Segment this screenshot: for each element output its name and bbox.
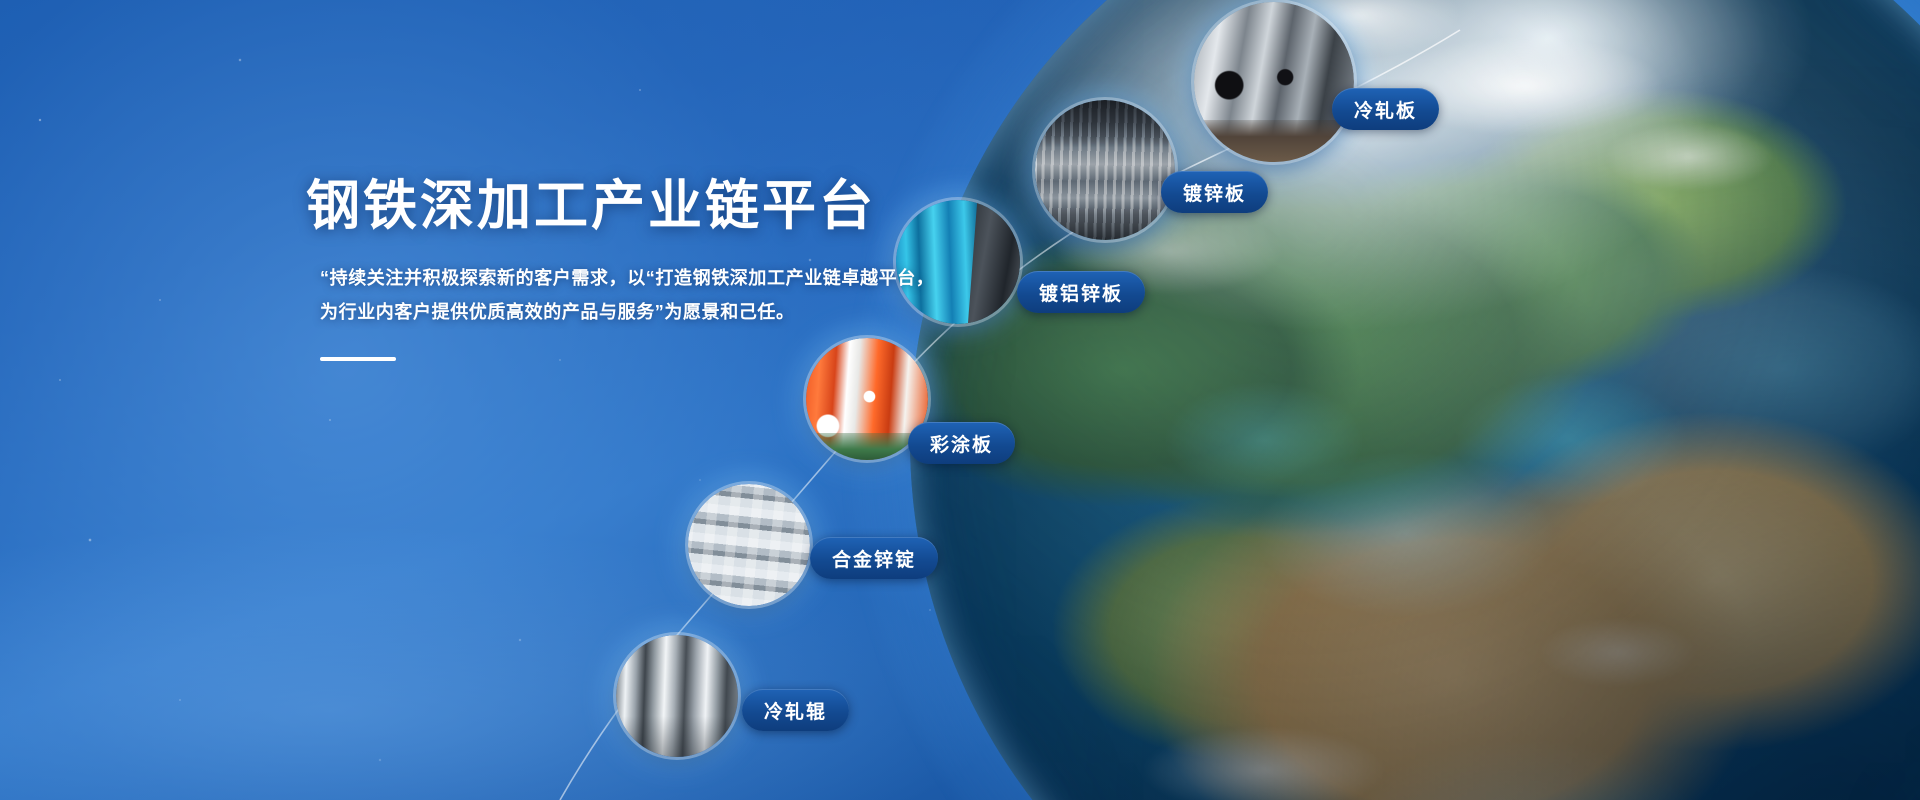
product-label-5-text: 合金锌锭 xyxy=(832,545,916,572)
product-label-1-text: 冷轧板 xyxy=(1354,96,1417,123)
galvanized-warehouse-photo xyxy=(1035,100,1175,240)
cold-rolling-rolls-photo xyxy=(616,635,738,757)
hero-subtitle-line-2: 为行业内客户提供优质高效的产品与服务”为愿景和己任。 xyxy=(320,296,946,329)
hero-text-block: 钢铁深加工产业链平台 “持续关注并积极探索新的客户需求，以“打造钢铁深加工产业链… xyxy=(306,176,946,361)
hero-banner: 冷轧板 镀锌板 镀铝锌板 彩涂板 合金锌锭 xyxy=(0,0,1920,800)
product-label-3-text: 镀铝锌板 xyxy=(1039,279,1123,306)
product-thumbnail-5[interactable] xyxy=(688,484,810,606)
zinc-ingot-stack-photo xyxy=(688,484,810,606)
hero-subtitle: “持续关注并积极探索新的客户需求，以“打造钢铁深加工产业链卓越平台， 为行业内客… xyxy=(306,262,946,329)
product-thumbnail-6[interactable] xyxy=(616,635,738,757)
product-thumbnail-1[interactable] xyxy=(1194,2,1354,162)
hero-subtitle-line-1: “持续关注并积极探索新的客户需求，以“打造钢铁深加工产业链卓越平台， xyxy=(320,262,946,295)
page-title: 钢铁深加工产业链平台 xyxy=(306,176,946,236)
product-label-4[interactable]: 彩涂板 xyxy=(908,422,1015,464)
product-label-1[interactable]: 冷轧板 xyxy=(1332,88,1439,130)
product-label-3[interactable]: 镀铝锌板 xyxy=(1017,271,1145,313)
product-thumbnail-2[interactable] xyxy=(1035,100,1175,240)
title-underline-divider xyxy=(320,357,396,361)
product-label-5[interactable]: 合金锌锭 xyxy=(810,537,938,579)
product-label-2-text: 镀锌板 xyxy=(1183,179,1246,206)
product-label-6[interactable]: 冷轧辊 xyxy=(742,689,849,731)
product-label-6-text: 冷轧辊 xyxy=(764,697,827,724)
product-label-2[interactable]: 镀锌板 xyxy=(1161,171,1268,213)
product-label-4-text: 彩涂板 xyxy=(930,430,993,457)
steel-coils-photo xyxy=(1194,2,1354,162)
